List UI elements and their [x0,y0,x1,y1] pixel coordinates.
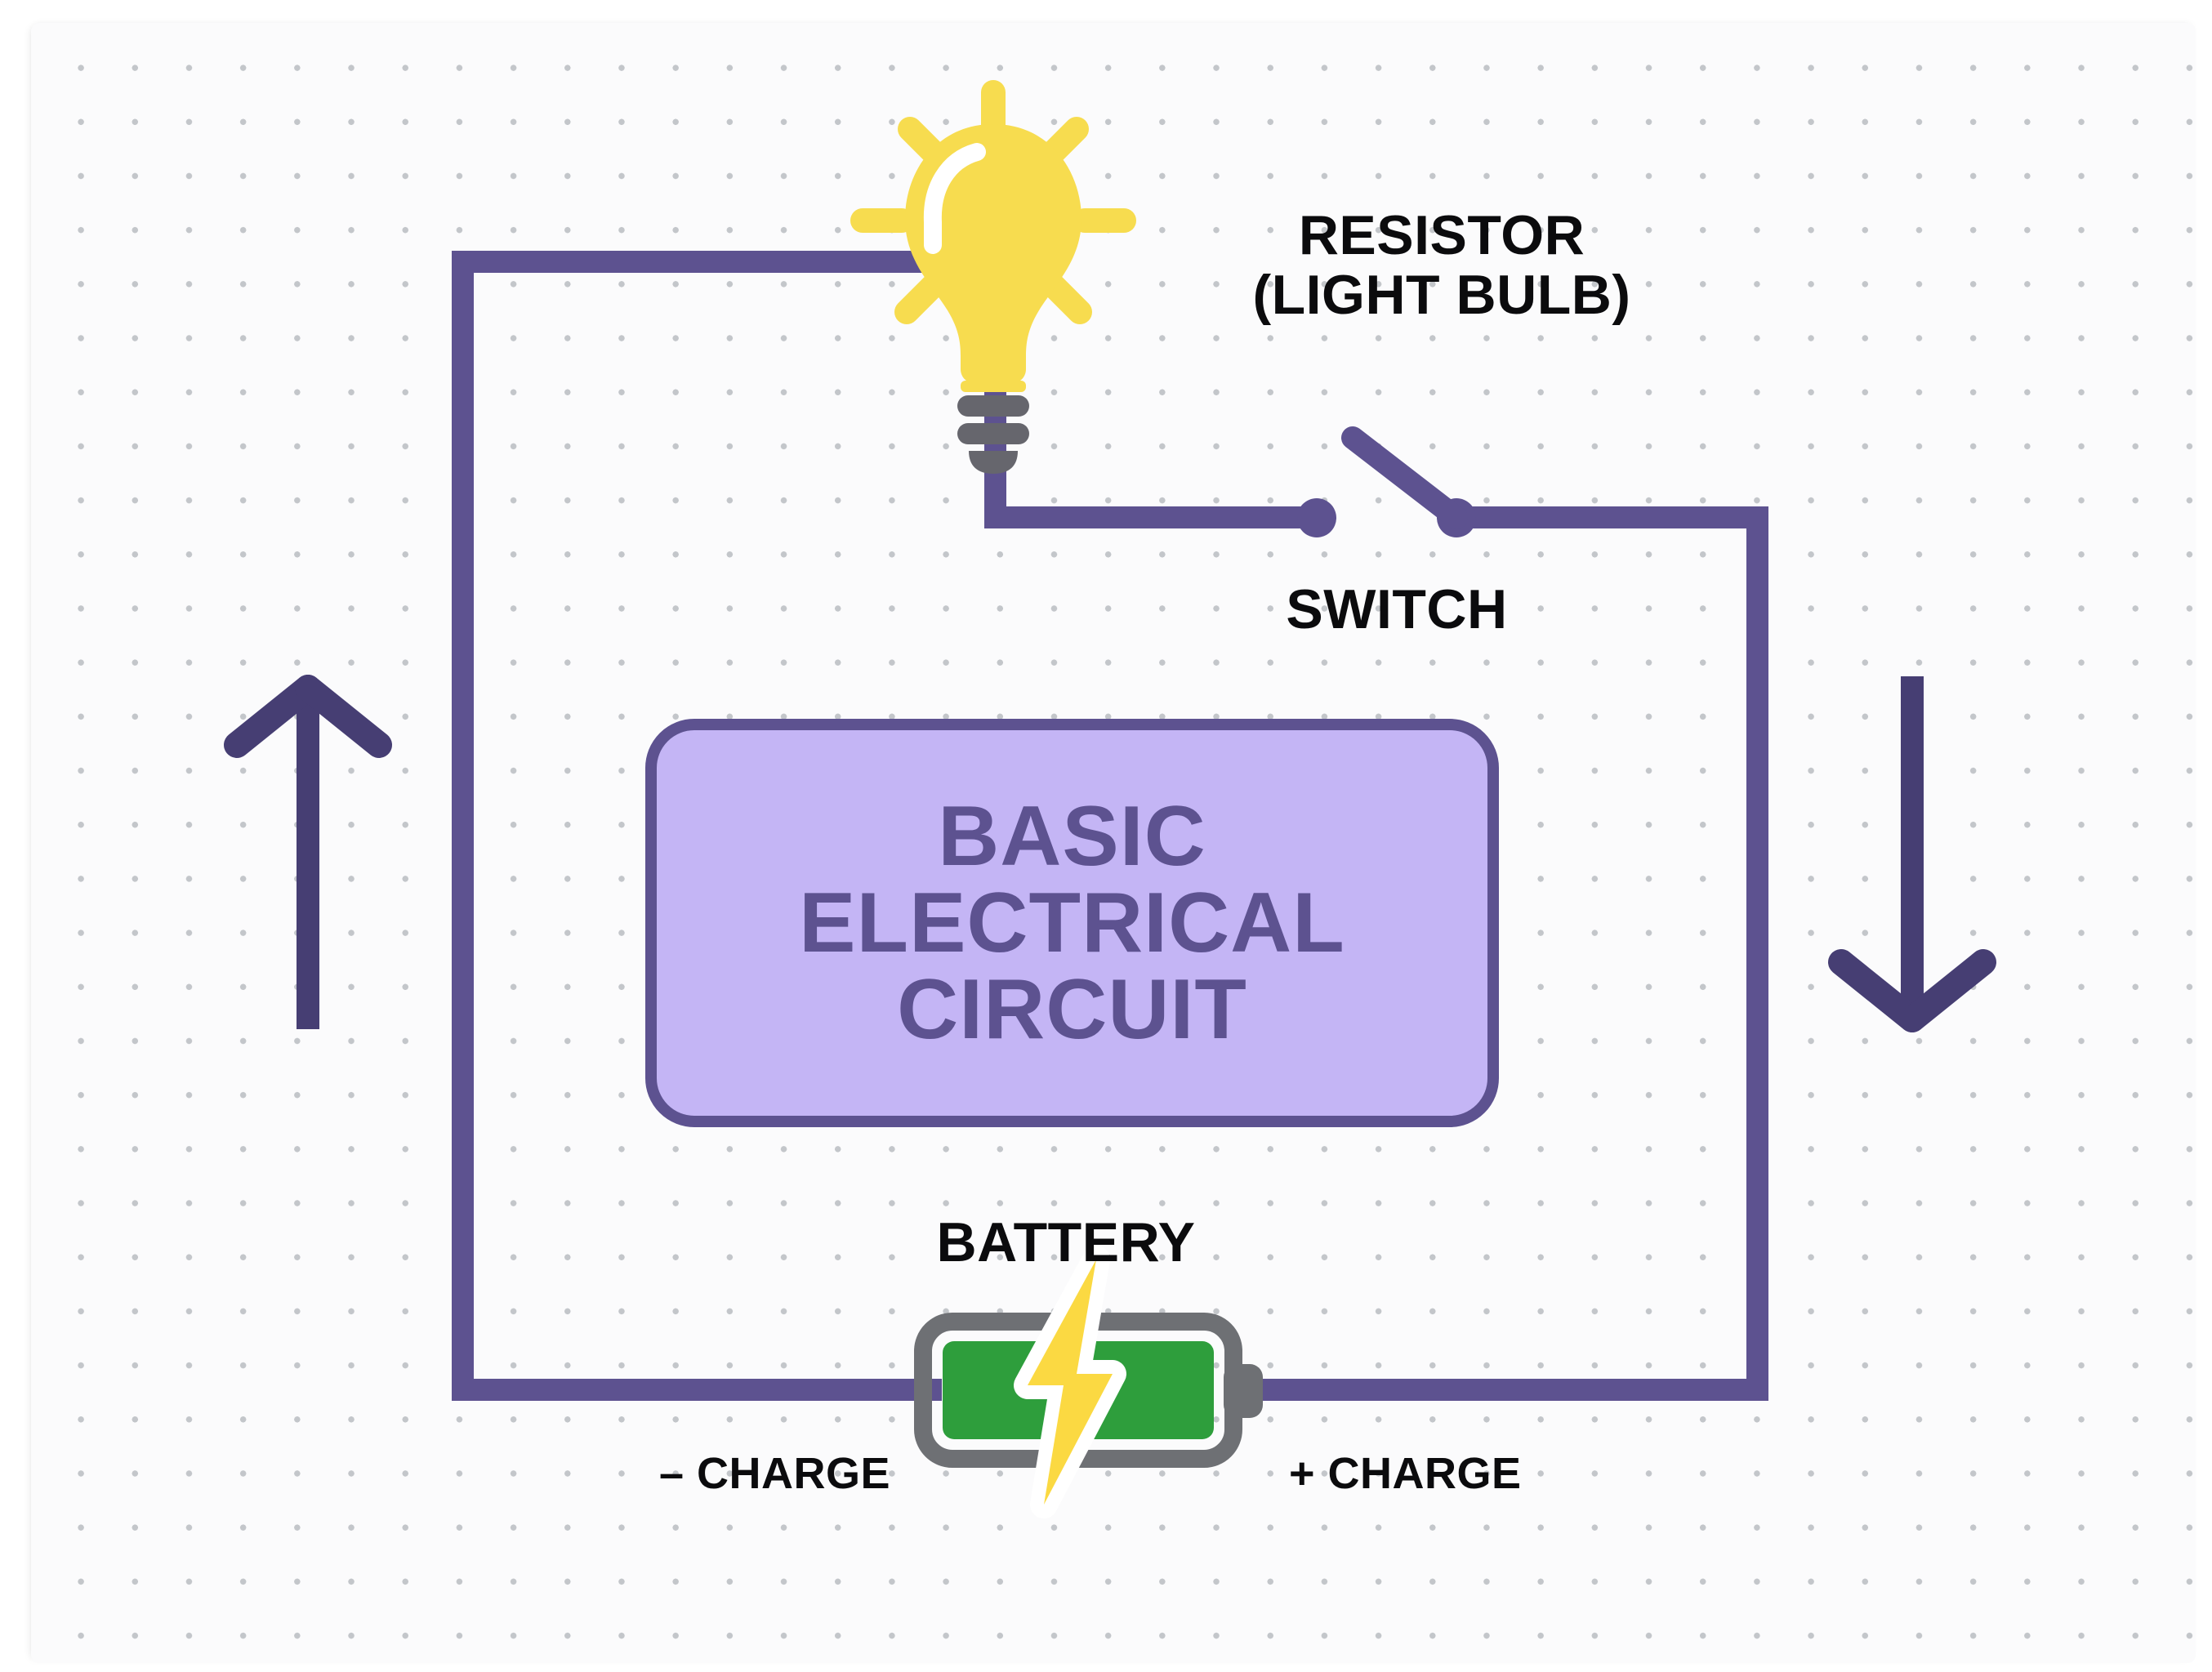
current-arrow-left [237,686,379,1029]
bulb-collar [961,381,1026,392]
switch[interactable] [1297,438,1476,537]
label-positive-charge: + CHARGE [1289,1450,1616,1497]
label-switch: SWITCH [1225,580,1568,640]
light-bulb-icon [863,92,1124,474]
wire-left-vertical [452,251,474,1401]
label-battery: BATTERY [890,1213,1242,1273]
wire-bulb-to-switch [984,506,1319,528]
battery-icon [923,1260,1263,1505]
label-negative-charge: – CHARGE [564,1450,890,1497]
arrow-right-shaft [1901,676,1924,1019]
page-title: BASIC ELECTRICAL CIRCUIT [799,793,1345,1053]
bulb-base-ring-2 [957,423,1029,444]
bulb-base-ring-1 [957,395,1029,417]
circuit-diagram-page: BASIC ELECTRICAL CIRCUIT RESISTOR (LIGHT… [0,0,2212,1672]
arrow-left-shaft [297,686,319,1029]
wire-switch-to-right [1456,506,1768,528]
bulb-glass [905,124,1081,384]
bulb-ray-bottom-right [1052,284,1080,312]
bulb-base-tip [969,451,1018,474]
label-resistor: RESISTOR (LIGHT BULB) [1189,206,1695,326]
switch-terminal-left[interactable] [1297,498,1336,537]
wire-bottom-right [1233,1379,1768,1401]
wire-top-left [452,251,962,273]
switch-lever[interactable] [1353,438,1456,518]
wire-bottom-left [452,1379,942,1401]
wire-right-vertical [1746,506,1768,1401]
bulb-ray-bottom-left [907,284,934,312]
title-box: BASIC ELECTRICAL CIRCUIT [645,719,1499,1127]
current-arrow-right [1841,676,1983,1019]
